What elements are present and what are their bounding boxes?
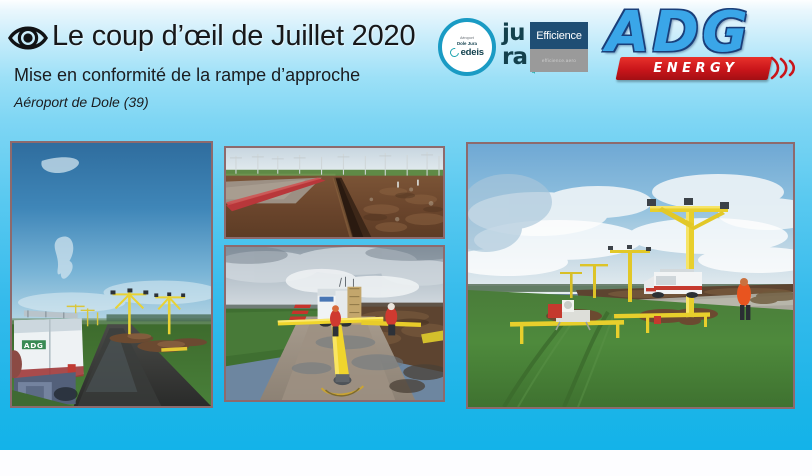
slide-canvas: Le coup d’œil de Juillet 2020 Mise en co…: [0, 0, 812, 476]
logo-edeis: Aéroport Dole Jura edeis: [438, 18, 496, 76]
photo-top-mid-content: [226, 148, 443, 237]
photo-right[interactable]: [466, 142, 795, 409]
jura-line-1: ju: [502, 22, 525, 45]
photo-bot-mid[interactable]: [224, 245, 445, 402]
page-title: Le coup d’œil de Juillet 2020: [52, 18, 415, 54]
edeis-brand-label: edeis: [461, 48, 484, 58]
eye-icon: [8, 21, 48, 55]
efficience-title: Efficience: [530, 22, 588, 49]
logo-adg-energy: ADG ENERGY: [600, 0, 812, 92]
logo-efficience: Efficience efficience.aero: [530, 22, 588, 72]
photo-top-mid[interactable]: [224, 146, 445, 239]
jura-line-2: ra: [502, 46, 527, 69]
page-subtitle: Mise en conformité de la rampe d’approch…: [14, 64, 360, 86]
adg-brand-label: ADG: [606, 4, 751, 62]
slide-bottom-strip: [0, 450, 812, 476]
efficience-subtitle: efficience.aero: [530, 49, 588, 72]
photo-right-content: [468, 144, 793, 407]
svg-text:ADG: ADG: [24, 341, 44, 350]
edeis-brand: edeis: [450, 48, 484, 58]
page-location: Aéroport de Dole (39): [14, 93, 149, 111]
adg-tagline: ENERGY: [626, 60, 766, 77]
edeis-swirl-icon: [448, 47, 461, 60]
photo-left[interactable]: ADG: [10, 141, 213, 408]
photo-bot-mid-content: [226, 247, 443, 400]
slide-header: Le coup d’œil de Juillet 2020 Mise en co…: [0, 0, 812, 120]
signal-waves-icon: [768, 52, 804, 84]
edeis-mid-line: Dole Jura: [457, 41, 477, 46]
logo-row: Aéroport Dole Jura edeis ju ra LE DÉPART…: [434, 8, 812, 88]
photo-left-content: ADG: [12, 143, 211, 406]
